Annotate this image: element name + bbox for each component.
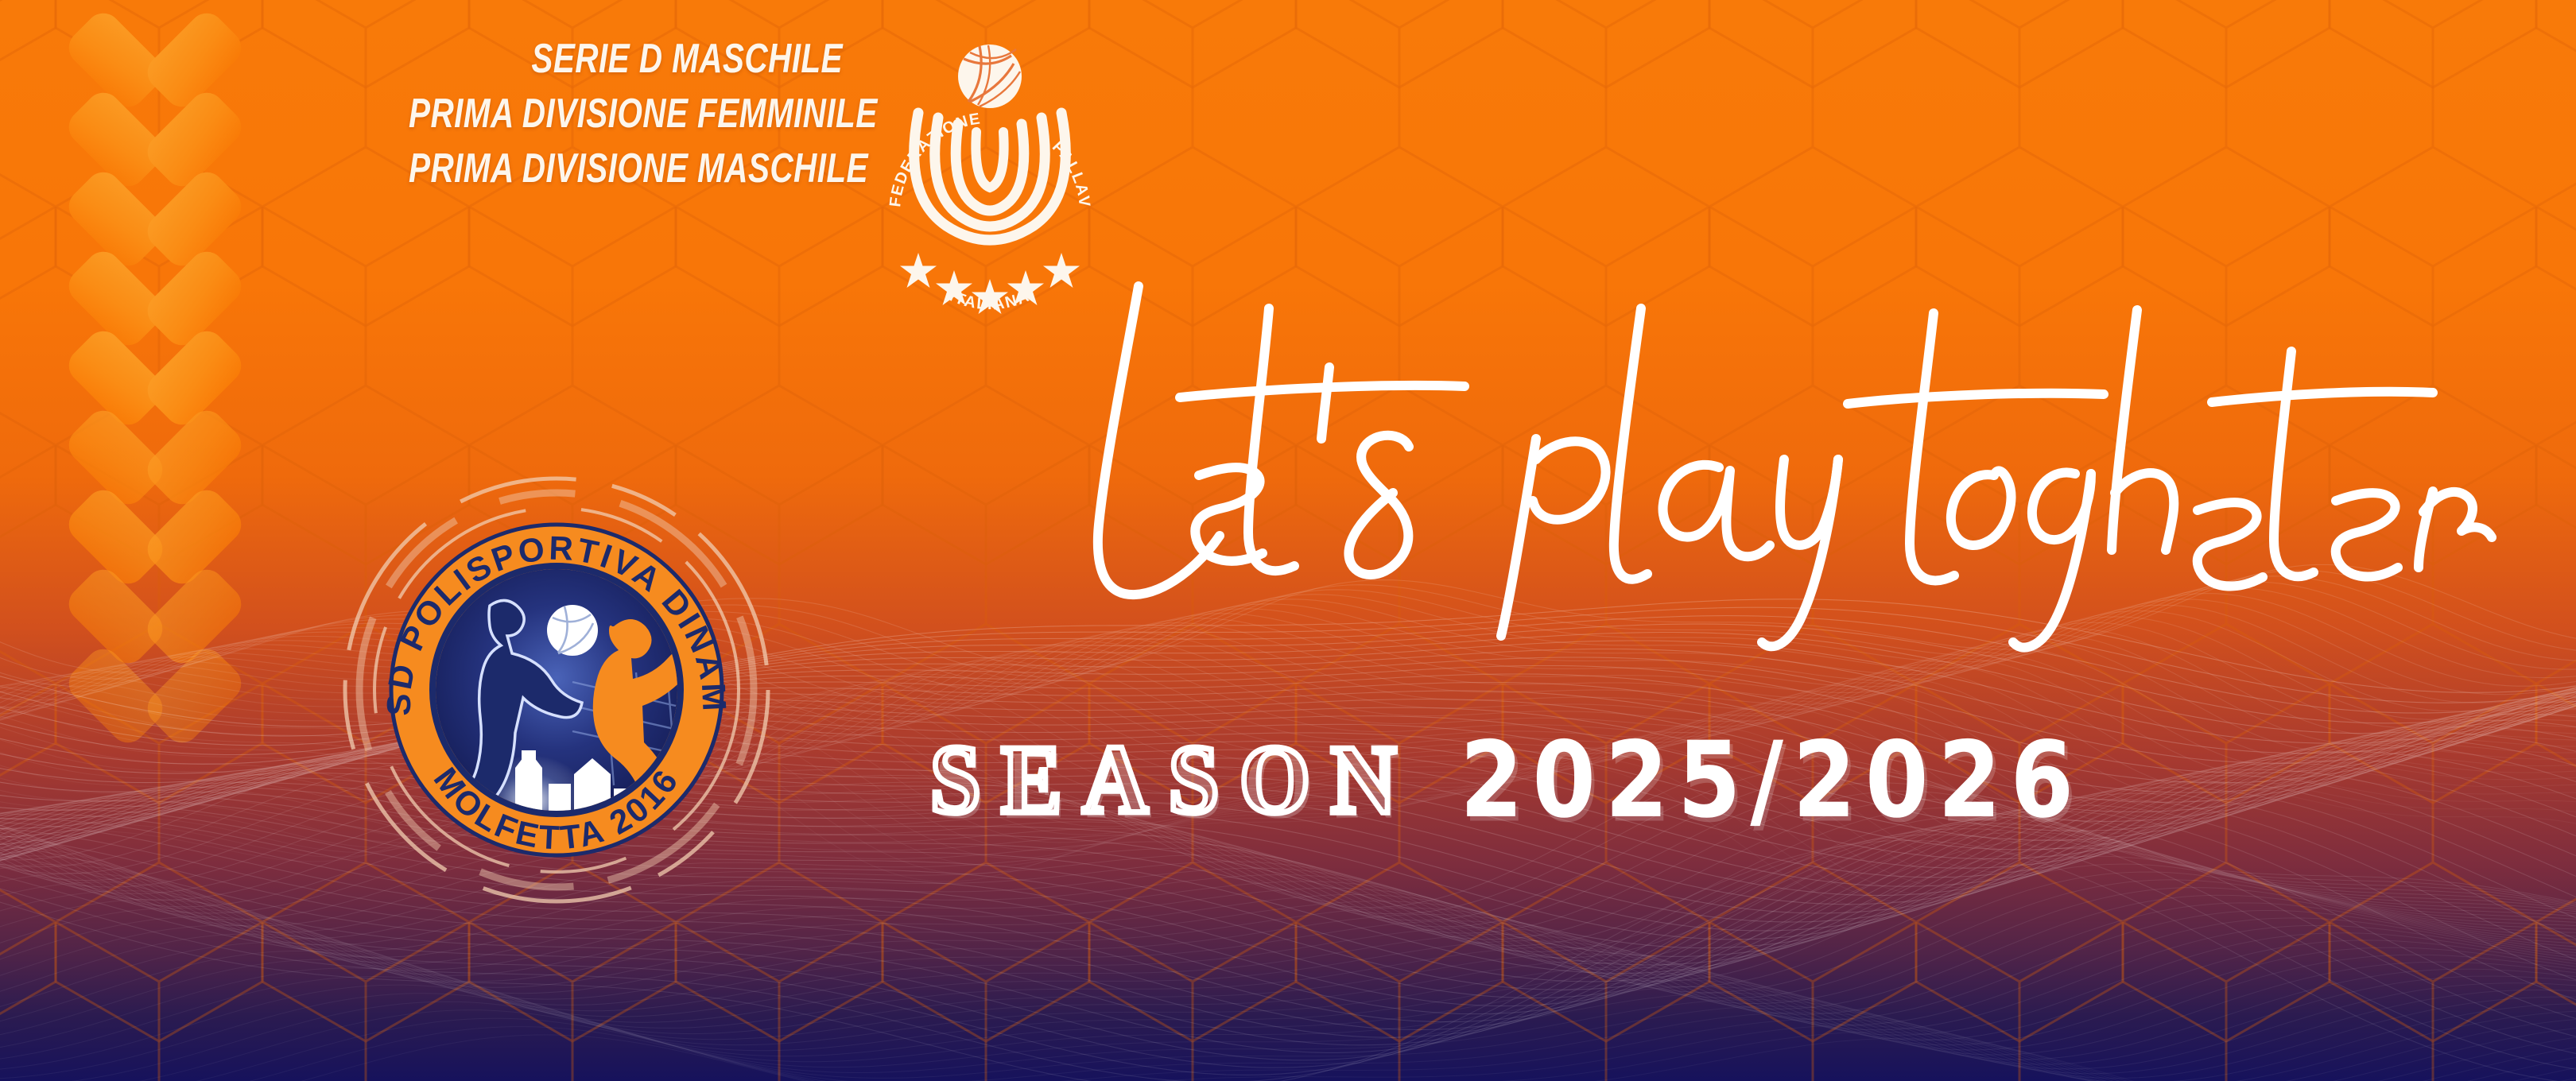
season-year: 2025/2026 xyxy=(1460,727,2083,832)
badge-volleyball-icon xyxy=(547,605,598,656)
horseshoe-arcs xyxy=(914,113,1066,240)
tagline-script xyxy=(1049,262,2512,636)
chevron-arrow-stack xyxy=(76,14,258,730)
division-line-1: SERIE D MASCHILE xyxy=(409,38,843,80)
division-line-2: PRIMA DIVISIONE FEMMINILE xyxy=(409,93,843,135)
season-announcement-banner: SERIE D MASCHILE PRIMA DIVISIONE FEMMINI… xyxy=(0,0,2576,1081)
volleyball-icon xyxy=(958,45,1022,108)
division-list: SERIE D MASCHILE PRIMA DIVISIONE FEMMINI… xyxy=(286,38,843,190)
season-label: SEASON xyxy=(930,730,1417,828)
division-line-3: PRIMA DIVISIONE MASCHILE xyxy=(409,148,843,190)
chevron-down-icon xyxy=(76,650,235,744)
club-badge: ASD POLISPORTIVA DINAMO MOLFETTA 2016 xyxy=(334,467,779,912)
season-row: SEASON 2025/2026 xyxy=(930,728,2465,831)
